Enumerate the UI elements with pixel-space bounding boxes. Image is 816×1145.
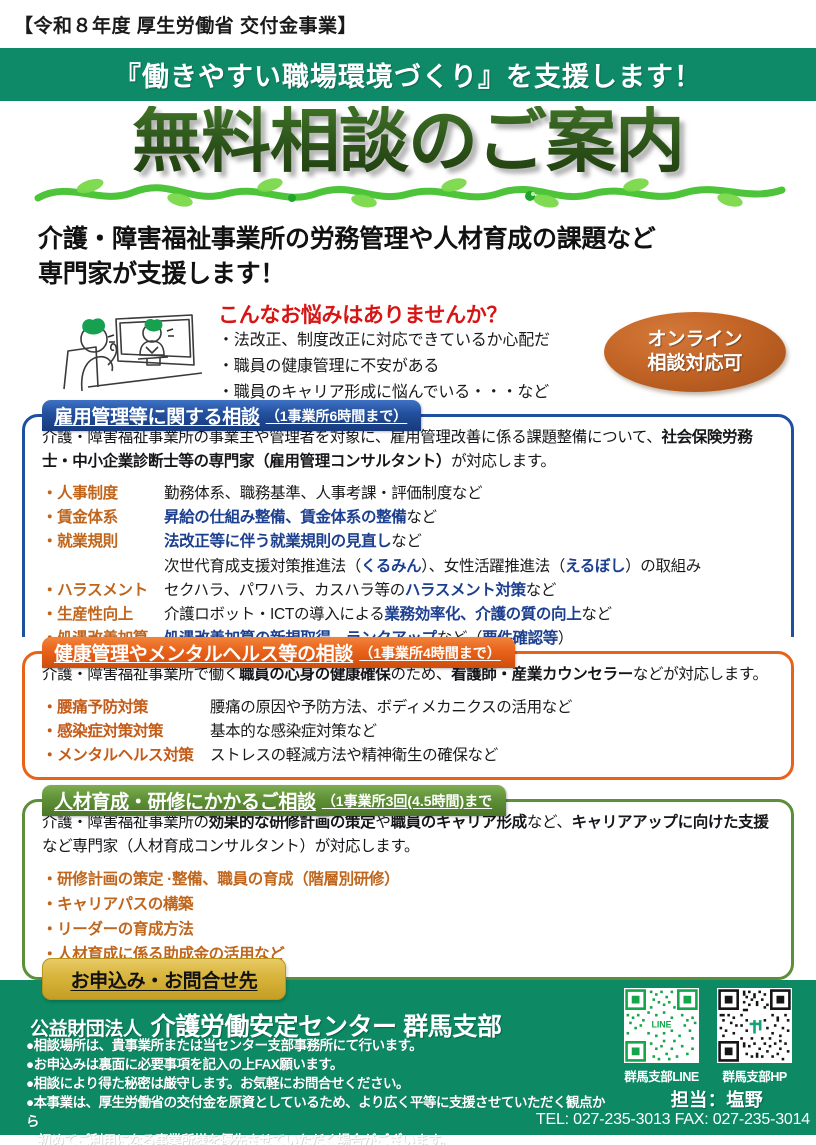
hero-title-wrap: 無料相談のご案内 — [0, 101, 816, 181]
emphasis-run: 法改正等に伴う就業規則の見直し — [164, 533, 391, 550]
footer-note: ●相談により得た秘密は厳守します。お気軽にお問合せください。 — [26, 1074, 616, 1093]
text-run: 勤務体系、職務基準、人事考課・評価制度など — [164, 485, 482, 502]
bullet-item: ・リーダーの育成方法 — [42, 917, 776, 942]
detail-row-label: ・就業規則 — [42, 530, 160, 554]
qr-caption: 群馬支部HP — [717, 1066, 792, 1085]
eyebrow-text: 【令和８年度 厚生労働省 交付金事業】 — [0, 0, 816, 48]
detail-row-value: 介護ロボット・ICTの導入による業務効率化、介護の質の向上など — [164, 603, 612, 627]
footer-note: ●お申込みは裏面に必要事項を記入の上FAX願います。 — [26, 1055, 616, 1074]
section-card-health-management: 健康管理やメンタルヘルス等の相談 （1事業所4時間まで） 介護・障害福祉事業所で… — [22, 637, 794, 780]
text-run: など — [406, 509, 436, 526]
bullet-item: ・研修計画の策定 ·整備、職員の育成（階層別研修） — [42, 867, 776, 892]
card-tab-title: 健康管理やメンタルヘルス等の相談 — [54, 639, 353, 666]
worry-heading: こんなお悩みはありませんか？ — [218, 299, 507, 329]
qr-code-homepage-icon[interactable] — [717, 988, 792, 1063]
lead-copy: 介護・障害福祉事業所の労務管理や人材育成の課題など 専門家が支援します！ — [38, 222, 778, 291]
hero-title: 無料相談のご案内 — [132, 106, 684, 176]
detail-row-value: ストレスの軽減方法や精神衛生の確保など — [210, 744, 498, 768]
text-run: ストレスの軽減方法や精神衛生の確保など — [210, 747, 498, 764]
emphasis-run: キャリアアップに向けた支援 — [572, 814, 769, 831]
detail-row-value: 基本的な感染症対策など — [210, 720, 377, 744]
card-description: 介護・障害福祉事業所の事業主や管理者を対象に、雇用管理改善に係る課題整備について… — [42, 426, 776, 473]
text-run: 介護・障害福祉事業所の — [42, 814, 209, 831]
staff-contact: 担当：塩野 — [624, 1086, 810, 1112]
text-run: 次世代育成支援対策推進法（ — [164, 558, 361, 575]
detail-row: ・メンタルヘルス対策ストレスの軽減方法や精神衛生の確保など — [42, 744, 776, 768]
text-run: セクハラ、パワハラ、カスハラ等の — [164, 582, 405, 599]
qr-cell-homepage[interactable]: 群馬支部HP — [717, 988, 792, 1085]
text-run: 基本的な感染症対策など — [210, 723, 377, 740]
text-run: ）、女性活躍推進法（ — [421, 558, 565, 575]
detail-row-value: 昇給の仕組み整備、賃金体系の整備など — [164, 506, 437, 530]
lead-line-2: 専門家が支援します！ — [38, 257, 778, 292]
detail-row-label: ・感染症対策対策 — [42, 720, 206, 744]
card-rows: ・腰痛予防対策腰痛の原因や予防方法、ボディメカニクスの活用など・感染症対策対策基… — [42, 696, 776, 769]
card-tab-hr-development: 人材育成・研修にかかるご相談 （1事業所3回(4.5時間)まで — [42, 785, 506, 816]
section-card-hr-development: 人材育成・研修にかかるご相談 （1事業所3回(4.5時間)まで 介護・障害福祉事… — [22, 785, 794, 980]
green-band-text: 『働きやすい職場環境づくり』を支援します！ — [114, 55, 702, 94]
footer: 公益財団法人 介護労働安定センター 群馬支部 ●相談場所は、貴事業所または当セン… — [0, 980, 816, 1135]
leaf-divider-decoration — [30, 172, 790, 208]
detail-row: ・ハラスメントセクハラ、パワハラ、カスハラ等のハラスメント対策など — [42, 579, 776, 603]
card-tab-subtitle: （1事業所3回(4.5時間)まで — [322, 791, 492, 811]
text-run: 腰痛の原因や予防方法、ボディメカニクスの活用など — [210, 699, 572, 716]
text-run: など — [391, 533, 421, 550]
text-run: 介護・障害福祉事業所の事業主や管理者を対象に、雇用管理改善に係る課題整備について… — [42, 429, 661, 446]
qr-code-line-icon[interactable]: LINE — [624, 988, 699, 1063]
poster-page: 【令和８年度 厚生労働省 交付金事業】 『働きやすい職場環境づくり』を支援します… — [0, 0, 816, 1145]
text-run: 介護・障害福祉事業所で働く — [42, 666, 239, 683]
card-body: 介護・障害福祉事業所の事業主や管理者を対象に、雇用管理改善に係る課題整備について… — [22, 400, 794, 663]
detail-row-value: 次世代育成支援対策推進法（くるみん）、女性活躍推進法（えるぼし）の取組み — [164, 555, 701, 579]
card-tab-title: 人材育成・研修にかかるご相談 — [54, 787, 316, 814]
text-run: のため、 — [390, 666, 451, 683]
detail-row: ・賃金体系昇給の仕組み整備、賃金体系の整備など — [42, 506, 776, 530]
telephone-fax: TEL: 027-235-3013 FAX: 027-235-3014 — [525, 1111, 810, 1129]
text-run: 介護ロボット・ICTの導入による — [164, 606, 384, 623]
detail-row-value: 法改正等に伴う就業規則の見直しなど — [164, 530, 422, 554]
worry-list: ・法改正、制度改正に対応できているか心配だ ・職員の健康管理に不安がある ・職員… — [218, 328, 598, 406]
apply-contact-button[interactable]: お申込み・お問合せ先 — [42, 958, 286, 1000]
card-description: 介護・障害福祉事業所の効果的な研修計画の策定や職員のキャリア形成など、キャリアア… — [42, 811, 776, 858]
emphasis-run: 昇給の仕組み整備、賃金体系の整備 — [164, 509, 406, 526]
detail-row-label: ・腰痛予防対策 — [42, 696, 206, 720]
detail-row-label: ・メンタルヘルス対策 — [42, 744, 206, 768]
text-run: や — [375, 814, 390, 831]
emphasis-run: えるぼし — [565, 558, 625, 575]
online-consultation-illustration — [42, 303, 232, 393]
emphasis-run: 効果的な研修計画の策定 — [209, 814, 376, 831]
emphasis-run: ハラスメント対策 — [405, 582, 526, 599]
detail-row-label: ・ハラスメント — [42, 579, 160, 603]
detail-row: ・人事制度勤務体系、職務基準、人事考課・評価制度など — [42, 482, 776, 506]
online-available-badge: オンライン 相談対応可 — [604, 312, 786, 392]
footer-note: 初めてご利用になる事業所様を優先させていただく場合がございます。 — [26, 1131, 616, 1145]
text-run: など — [581, 606, 611, 623]
qr-cell-line[interactable]: LINE 群馬支部LINE — [624, 988, 699, 1085]
qr-caption: 群馬支部LINE — [624, 1066, 699, 1085]
emphasis-run: 職員の心身の健康確保 — [239, 666, 391, 683]
detail-row-label: ・人事制度 — [42, 482, 160, 506]
badge-line-2: 相談対応可 — [647, 352, 742, 376]
detail-row-value: 勤務体系、職務基準、人事考課・評価制度など — [164, 482, 482, 506]
worry-item: ・職員の健康管理に不安がある — [218, 354, 598, 380]
lead-line-1: 介護・障害福祉事業所の労務管理や人材育成の課題など — [38, 222, 778, 257]
qr-code-group: LINE 群馬支部LINE — [624, 988, 792, 1085]
detail-row: ・生産性向上介護ロボット・ICTの導入による業務効率化、介護の質の向上など — [42, 603, 776, 627]
detail-row-label: ・賃金体系 — [42, 506, 160, 530]
svg-text:LINE: LINE — [651, 1020, 671, 1030]
card-tab-health-management: 健康管理やメンタルヘルス等の相談 （1事業所4時間まで） — [42, 637, 515, 668]
detail-row-value: セクハラ、パワハラ、カスハラ等のハラスメント対策など — [164, 579, 556, 603]
detail-row-value: 腰痛の原因や予防方法、ボディメカニクスの活用など — [210, 696, 572, 720]
worry-item: ・法改正、制度改正に対応できているか心配だ — [218, 328, 598, 354]
text-run: などが対応します。 — [633, 666, 768, 683]
emphasis-run: 業務効率化、介護の質の向上 — [384, 606, 581, 623]
detail-row: ・感染症対策対策基本的な感染症対策など — [42, 720, 776, 744]
green-band: 『働きやすい職場環境づくり』を支援します！ — [0, 48, 816, 101]
text-run: など — [526, 582, 556, 599]
emphasis-run: 職員のキャリア形成 — [390, 814, 526, 831]
card-tab-subtitle: （1事業所6時間まで） — [266, 406, 408, 426]
card-tab-subtitle: （1事業所4時間まで） — [359, 643, 501, 663]
detail-row: ・就業規則法改正等に伴う就業規則の見直しなど — [42, 530, 776, 554]
badge-line-1: オンライン — [647, 328, 742, 352]
detail-row: ・就業規則次世代育成支援対策推進法（くるみん）、女性活躍推進法（えるぼし）の取組… — [42, 555, 776, 579]
detail-row: ・腰痛予防対策腰痛の原因や予防方法、ボディメカニクスの活用など — [42, 696, 776, 720]
emphasis-run: くるみん — [361, 558, 421, 575]
card-tab-title: 雇用管理等に関する相談 — [54, 402, 260, 429]
apply-contact-label: お申込み・お問合せ先 — [70, 966, 257, 993]
detail-row-label: ・生産性向上 — [42, 603, 160, 627]
section-card-employment-management: 雇用管理等に関する相談 （1事業所6時間まで） 介護・障害福祉事業所の事業主や管… — [22, 400, 794, 663]
text-run: など専門家（人材育成コンサルタント）が対応します。 — [42, 838, 419, 855]
card-bullet-list: ・研修計画の策定 ·整備、職員の育成（階層別研修）・キャリアパスの構築・リーダー… — [42, 867, 776, 967]
card-tab-employment-management: 雇用管理等に関する相談 （1事業所6時間まで） — [42, 400, 421, 431]
text-run: が対応します。 — [451, 453, 556, 470]
footer-note: ●相談場所は、貴事業所または当センター支部事務所にて行います。 — [26, 1036, 616, 1055]
card-rows: ・人事制度勤務体系、職務基準、人事考課・評価制度など・賃金体系昇給の仕組み整備、… — [42, 482, 776, 651]
text-run: ）の取組み — [625, 558, 701, 575]
bullet-item: ・キャリアパスの構築 — [42, 892, 776, 917]
text-run: など、 — [527, 814, 572, 831]
emphasis-run: 看護師・産業カウンセラー — [451, 666, 633, 683]
